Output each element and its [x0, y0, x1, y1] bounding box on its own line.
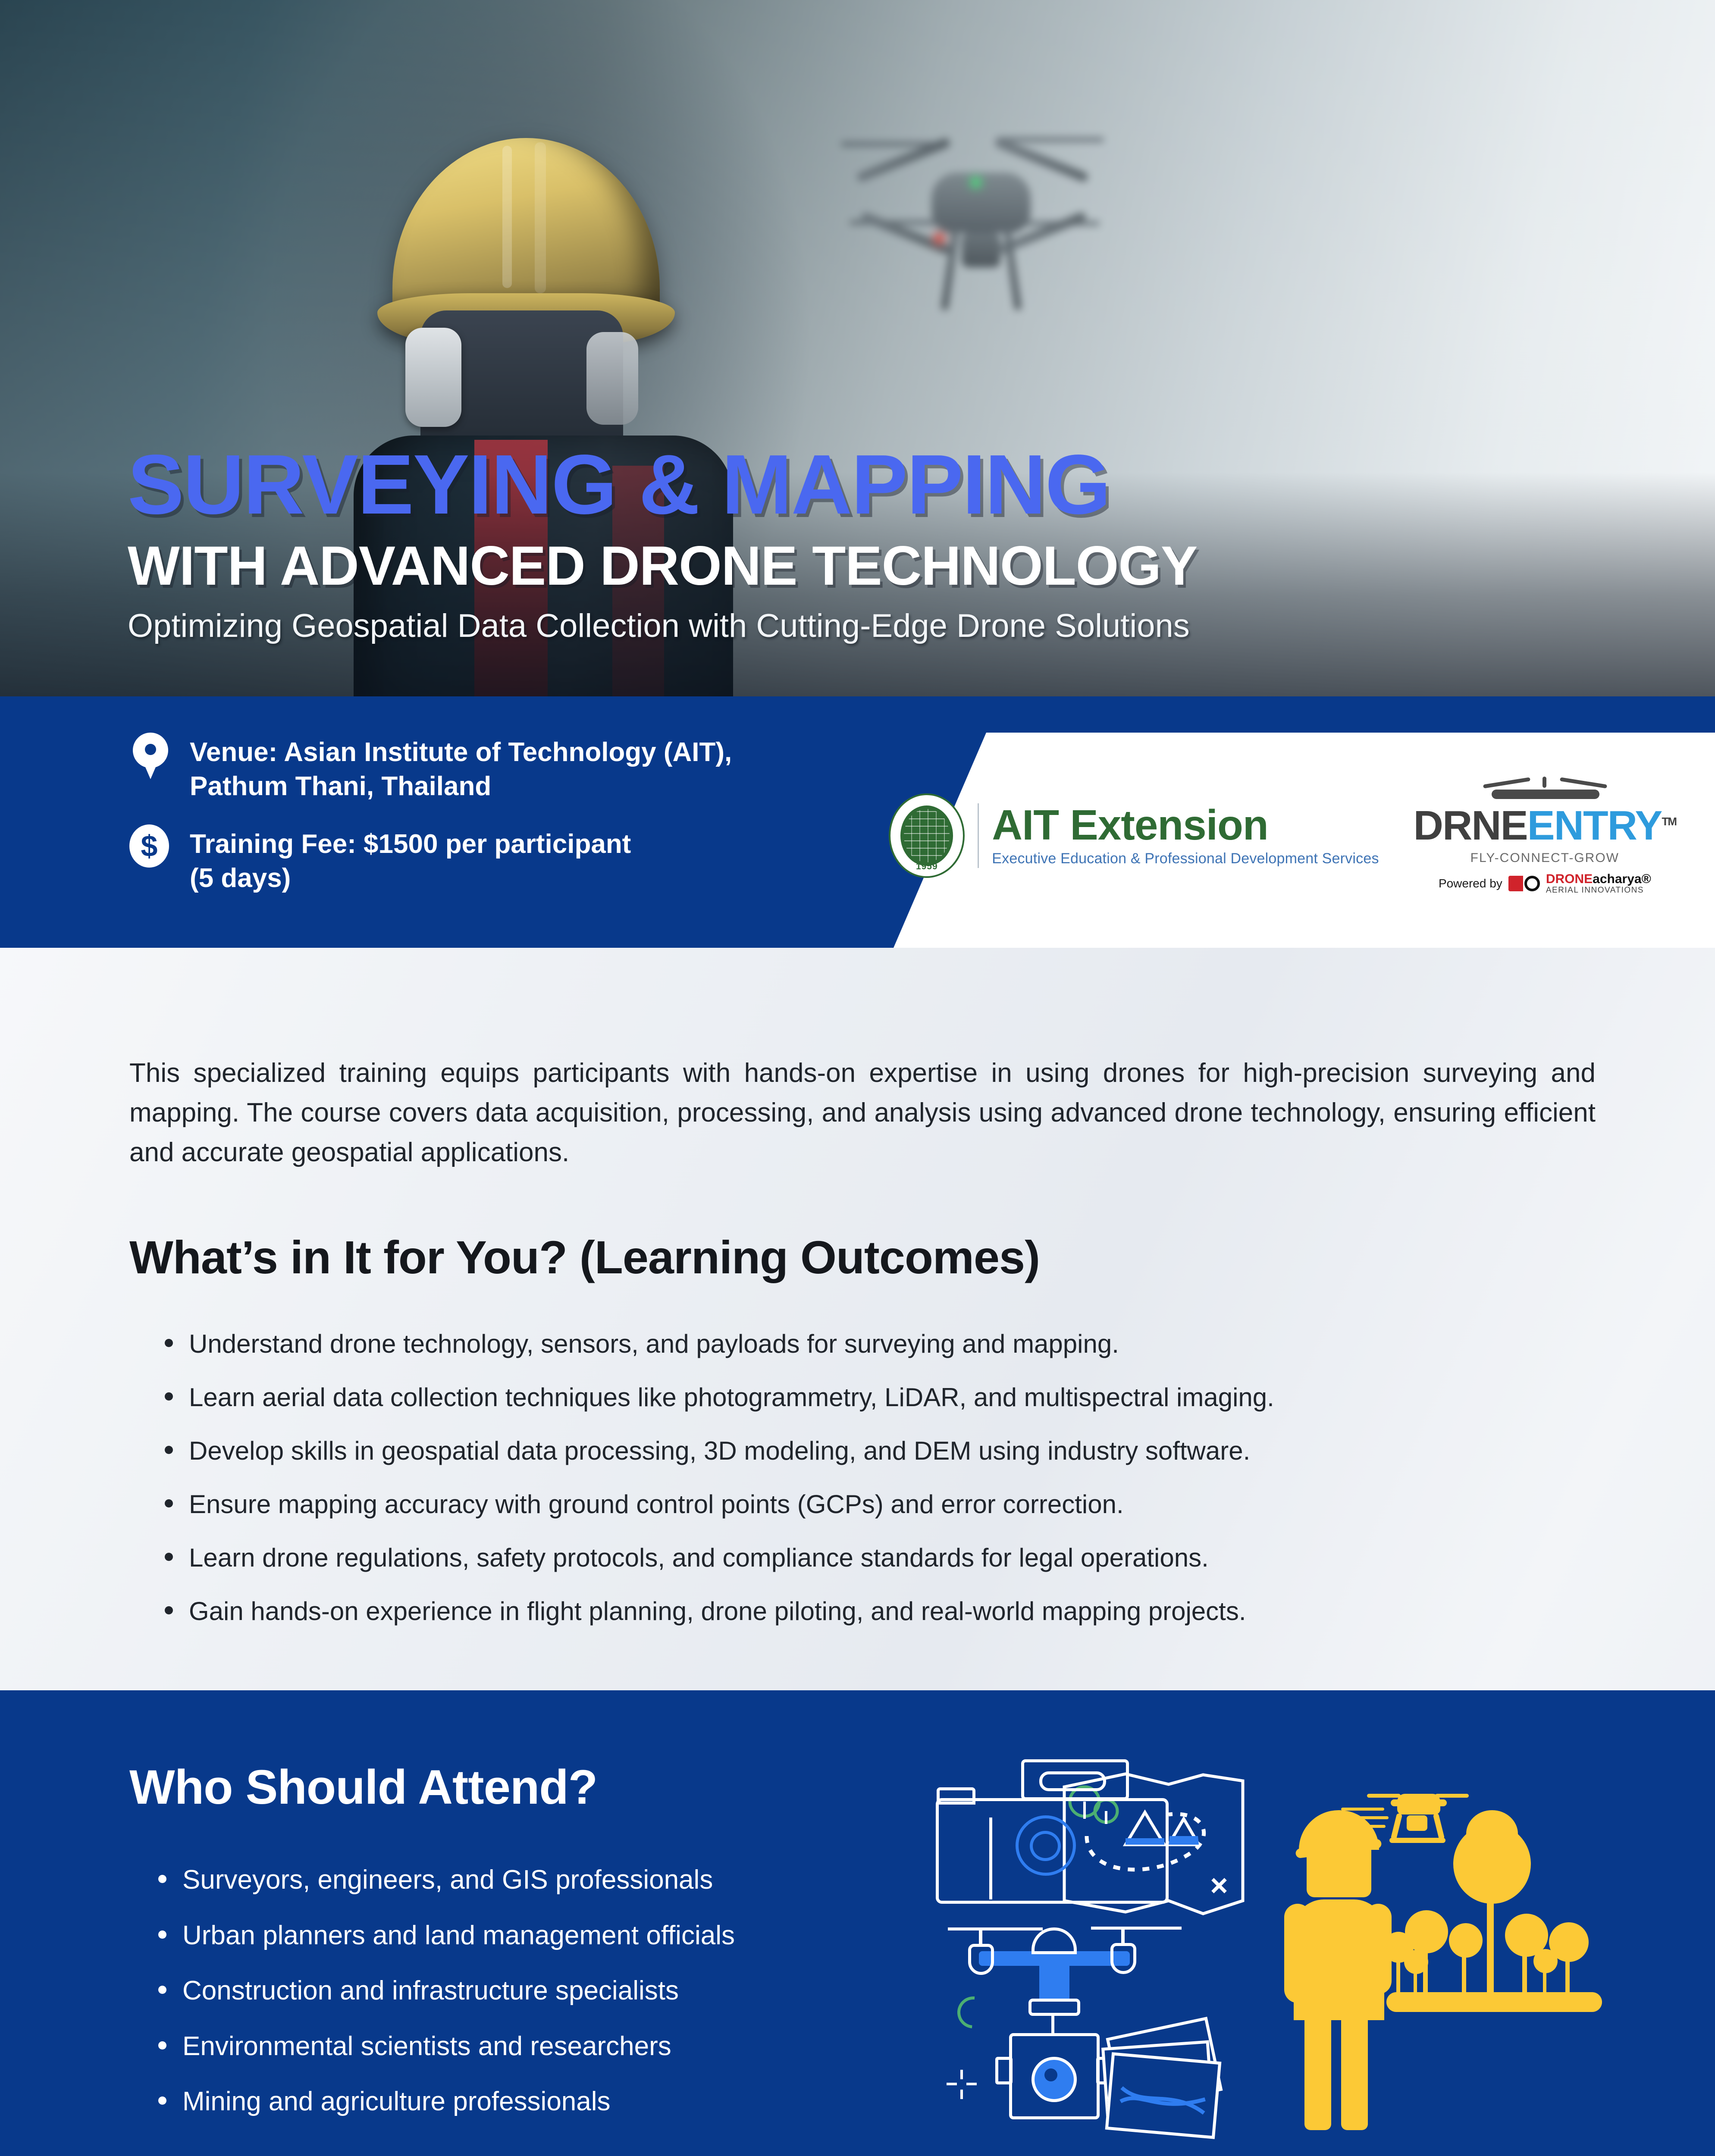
- powered-by-label: Powered by: [1439, 877, 1502, 890]
- yellow-drone-body: [1397, 1794, 1440, 1814]
- ait-seal-icon: 1959: [889, 793, 965, 878]
- learning-outcomes-list: Understand drone technology, sensors, an…: [155, 1327, 1643, 1648]
- ait-logo-name: AIT Extension: [992, 804, 1379, 846]
- pilot-leg-left: [1304, 2014, 1331, 2130]
- camera-lens-inner-icon: [1030, 1831, 1061, 1861]
- venue-line-1: Venue: Asian Institute of Technology (AI…: [190, 735, 732, 769]
- pilot-head: [1307, 1833, 1371, 1897]
- fee-text: Training Fee: $1500 per participant (5 d…: [190, 824, 631, 896]
- gimbal-stem: [1051, 2015, 1054, 2036]
- ground-mound: [1386, 1992, 1602, 2012]
- list-item: Environmental scientists and researchers: [149, 2029, 903, 2064]
- page-subtitle: WITH ADVANCED DRONE TECHNOLOGY: [128, 536, 1551, 596]
- drone-rotor-bar-left: [948, 1927, 1043, 1930]
- sparkle-decoration: [947, 2070, 977, 2100]
- yellow-drone-blade-right: [1435, 1794, 1469, 1798]
- attend-heading: Who Should Attend?: [129, 1759, 597, 1815]
- droneentry-logo: DRNEENTRYTM FLY-CONNECT-GROW Powered by …: [1414, 777, 1676, 894]
- droneacharya-black: acharya: [1593, 872, 1641, 886]
- droneacharya-sub: AERIAL INNOVATIONS: [1546, 886, 1651, 895]
- venue-line-2: Pathum Thani, Thailand: [190, 769, 732, 803]
- ear-protection: [405, 328, 461, 427]
- hero-banner: SURVEYING & MAPPING WITH ADVANCED DRONE …: [0, 0, 1715, 696]
- camera-side-line: [955, 1818, 992, 1899]
- drone-stem: [1039, 1951, 1069, 2001]
- drone-propeller-icon: [1474, 777, 1616, 805]
- ait-logo-tagline: Executive Education & Professional Devel…: [992, 850, 1379, 867]
- droneentry-entry: ENTRY: [1527, 802, 1662, 849]
- drone-camera-map-illustration: [931, 1755, 1246, 2048]
- list-item: Learn aerial data collection techniques …: [155, 1381, 1643, 1414]
- who-should-attend-section: Who Should Attend? Surveyors, engineers,…: [0, 1690, 1715, 2156]
- fee-line-2: (5 days): [190, 861, 631, 895]
- intro-paragraph: This specialized training equips partici…: [129, 1053, 1596, 1172]
- droneacharya-red: DRONE: [1546, 872, 1593, 886]
- droneacharya-mark-icon: [1508, 876, 1540, 891]
- droneentry-tagline: FLY-CONNECT-GROW: [1470, 851, 1619, 865]
- venue-row: Venue: Asian Institute of Technology (AI…: [129, 733, 884, 804]
- yellow-drone-camera: [1407, 1815, 1427, 1831]
- gimbal-mount-left: [995, 2057, 1013, 2084]
- logo-group: 1959 AIT Extension Executive Education &…: [889, 777, 1676, 894]
- ait-seal-year: 1959: [890, 862, 963, 872]
- ear-protection-right: [586, 332, 638, 425]
- list-item: Learn drone regulations, safety protocol…: [155, 1541, 1643, 1575]
- list-item: Mining and agriculture professionals: [149, 2084, 903, 2119]
- list-item: Ensure mapping accuracy with ground cont…: [155, 1488, 1643, 1521]
- camera-viewfinder-icon: [1039, 1771, 1106, 1791]
- dollar-coin-icon: $: [129, 824, 172, 867]
- list-item: Surveyors, engineers, and GIS profession…: [149, 1863, 903, 1898]
- drone-pod-right: [1110, 1943, 1136, 1974]
- learning-outcomes-heading: What’s in It for You? (Learning Outcomes…: [129, 1230, 1040, 1284]
- registered-symbol: ®: [1642, 872, 1651, 886]
- droneentry-ne: NE: [1471, 802, 1527, 849]
- remote-controller-icon: [1358, 1992, 1378, 2013]
- attend-list: Surveyors, engineers, and GIS profession…: [149, 1863, 903, 2140]
- list-item: Gain hands-on experience in flight plann…: [155, 1595, 1643, 1628]
- fee-line-1: Training Fee: $1500 per participant: [190, 827, 631, 861]
- venue-text: Venue: Asian Institute of Technology (AI…: [190, 733, 732, 804]
- drone-pod-left: [968, 1944, 994, 1975]
- list-item: Urban planners and land management offic…: [149, 1918, 903, 1953]
- fee-row: $ Training Fee: $1500 per participant (5…: [129, 824, 884, 896]
- hero-text-block: SURVEYING & MAPPING WITH ADVANCED DRONE …: [128, 442, 1551, 645]
- droneentry-dr: DR: [1414, 802, 1472, 849]
- drone-pilot-illustration: [1281, 1759, 1608, 2044]
- photo-stack-icon: [1104, 2027, 1246, 2143]
- drone-base: [1028, 1999, 1080, 2016]
- list-item: Develop skills in geospatial data proces…: [155, 1434, 1643, 1468]
- yellow-drone-skid: [1389, 1838, 1445, 1843]
- main-content: This specialized training equips partici…: [0, 948, 1715, 1690]
- trademark-symbol: TM: [1662, 815, 1676, 828]
- green-arc-decoration: [951, 1990, 996, 2035]
- list-item: Construction and infrastructure speciali…: [149, 1974, 903, 2009]
- location-pin-icon: [129, 733, 172, 775]
- yellow-drone-leg-left: [1391, 1813, 1403, 1840]
- drone-icon: [841, 91, 1108, 315]
- info-band: Venue: Asian Institute of Technology (AI…: [0, 696, 1715, 948]
- yellow-drone-blade-left: [1367, 1794, 1401, 1798]
- droneentry-wordmark: DRNEENTRYTM: [1414, 805, 1676, 846]
- drone-rotor-bar-right: [1091, 1927, 1182, 1930]
- gimbal-lens-dot: [1044, 2068, 1057, 2081]
- event-details: Venue: Asian Institute of Technology (AI…: [129, 733, 884, 916]
- powered-by-row: Powered by DRONEacharya® AERIAL INNOVATI…: [1439, 872, 1651, 894]
- camera-grip-icon: [937, 1787, 975, 1805]
- page-title: SURVEYING & MAPPING: [128, 442, 1551, 527]
- page-tagline: Optimizing Geospatial Data Collection wi…: [128, 607, 1551, 645]
- list-item: Understand drone technology, sensors, an…: [155, 1327, 1643, 1361]
- ait-extension-logo: 1959 AIT Extension Executive Education &…: [889, 793, 1379, 878]
- pilot-leg-right: [1341, 2014, 1368, 2130]
- yellow-drone-leg-right: [1433, 1813, 1445, 1840]
- logo-divider: [978, 803, 979, 868]
